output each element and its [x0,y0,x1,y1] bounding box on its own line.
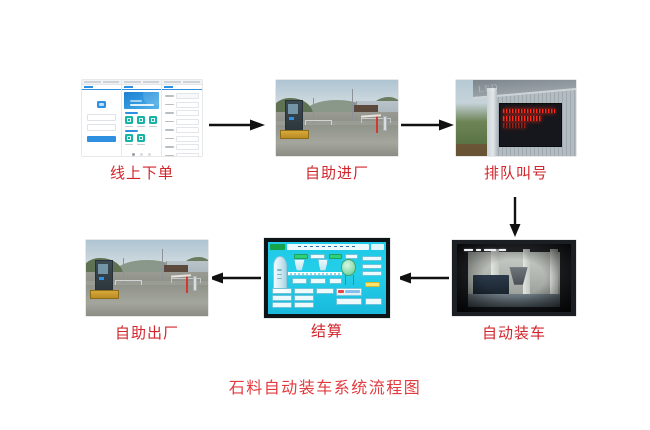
osd-text-segment [499,249,506,251]
hero-banner[interactable] [124,92,159,109]
connector-arrow-down [508,196,522,238]
form-row[interactable] [165,102,199,108]
section-label-more [125,130,138,132]
carousel-dot[interactable] [132,153,135,156]
factory-gate-photo [86,240,208,316]
chrome-bar-segment [164,81,181,83]
form-input[interactable] [176,153,199,157]
flow-node-settlement[interactable]: 结算 [264,238,390,318]
chrome-bar-segment [143,81,160,83]
form-label [165,95,174,97]
guard-rail [115,280,142,285]
flow-node-caption: 自助进厂 [276,164,398,182]
service-icon-grid-row1 [122,116,161,127]
app-mockup [82,80,202,156]
value-readout [310,278,325,284]
status-tag-running[interactable] [329,254,342,259]
form-label [165,129,174,131]
ticket-readout [336,298,362,304]
form-input[interactable] [176,102,199,108]
form-input[interactable] [176,119,199,125]
scada-hmi-photo [264,238,390,318]
table-cell [272,295,292,301]
booth-curb [280,130,309,138]
silo-level-mark [277,269,282,270]
table-cell [294,288,314,294]
service-icon-item[interactable] [125,116,133,127]
nav-tab-active [124,86,133,88]
form-label [165,112,174,114]
form-row[interactable] [165,153,199,157]
truck-icon [137,116,145,124]
weigh-hopper [318,259,329,271]
form-input[interactable] [176,127,199,133]
hmi-title-bar [287,244,370,250]
form-input[interactable] [176,136,199,142]
banner-title [130,104,154,107]
confirm-button[interactable] [365,298,383,304]
invoice-icon [149,116,157,124]
hmi-top-bar [268,242,386,251]
form-input[interactable] [176,144,199,150]
hmi-status-indicator [270,244,285,250]
status-tag-running[interactable] [294,254,308,259]
loading-truck-graphic [336,288,362,296]
flow-node-auto-loading[interactable]: 自动装车 [452,240,576,316]
flow-node-self-exit[interactable]: 自助出厂 [86,240,208,316]
silo-level-mark [277,278,282,279]
app-screen-order-form [162,80,202,156]
service-icon-label [125,126,133,128]
service-icon-label [125,144,133,146]
value-readout [292,278,307,284]
flow-node-caption: 排队叫号 [456,164,576,182]
self-service-kiosk [193,276,197,291]
nav-tab-row [122,85,161,90]
form-row[interactable] [165,110,199,116]
carousel-dots[interactable] [122,153,161,156]
hmi-clock [371,244,384,250]
login-button[interactable] [87,136,116,142]
status-tag[interactable] [310,254,324,259]
carousel-dot[interactable] [140,153,143,156]
barrier-gate-post [376,116,378,133]
connector-arrow-right [208,118,266,132]
form-row[interactable] [165,136,199,142]
login-body [82,90,121,145]
carousel-dot[interactable] [148,153,151,156]
chrome-bar-segment [124,81,141,83]
service-icon-label [149,126,157,128]
service-icon-label [137,126,145,128]
service-icon-item[interactable] [137,116,145,127]
thumbnail-factory-gate-entry[interactable] [276,80,398,156]
table-cell [294,302,314,308]
flow-node-online-order[interactable]: 线上下单 [82,80,202,156]
service-icon-item[interactable] [125,134,133,145]
guard-booth [95,260,113,292]
form-label [165,146,174,148]
utility-pole [162,249,164,281]
order-form-body [162,90,202,156]
self-service-kiosk [383,116,387,131]
wallet-icon [137,134,145,142]
camera-osd-timestamp [464,249,506,251]
order-icon [125,116,133,124]
form-label [165,155,174,156]
value-readout [329,278,342,284]
side-readout [362,256,382,261]
service-icon-item[interactable] [137,134,145,145]
tank-support-leg [345,275,346,285]
form-label [165,121,174,123]
table-cell [294,295,314,301]
flow-node-caption: 自动装车 [452,324,576,342]
thumbnail-app-screens[interactable] [82,80,202,156]
cctv-monitor-photo [452,240,576,316]
report-icon [125,134,133,142]
diagram-title: 石料自动装车系统流程图 [0,374,650,398]
username-field[interactable] [87,114,116,121]
wall-column [487,88,497,156]
alarm-tag[interactable] [365,282,380,287]
section-label-services [125,112,138,114]
flow-node-queue-call[interactable]: LED 排队叫号 [456,80,576,156]
tank-support-leg [353,275,354,285]
form-input[interactable] [176,110,199,116]
table-cell [272,302,292,308]
truck-under-loading [473,275,509,295]
weigh-hopper [294,259,305,271]
connector-arrow-left [212,271,262,285]
mixer-tank [341,259,356,276]
led-text-line [503,116,542,121]
conveyor-belt [288,272,342,276]
flow-node-self-entry[interactable]: 自助进厂 [276,80,398,156]
led-display-photo: LED [456,80,576,156]
form-label [165,104,174,106]
thumbnail-factory-gate-exit[interactable] [86,240,208,316]
form-input[interactable] [176,93,199,99]
booth-curb [90,290,119,298]
osd-text-segment [484,249,496,251]
factory-gate-photo [276,80,398,156]
osd-text-segment [476,249,481,251]
chrome-bar-segment [183,81,200,83]
flow-node-caption: 结算 [264,322,390,340]
bay-floor [468,294,559,306]
form-row[interactable] [165,119,199,125]
guard-rail [305,120,332,125]
side-readout [362,264,382,269]
guard-booth [285,100,303,132]
table-cell [272,288,292,294]
nav-tab-active [84,86,93,88]
osd-text-segment [464,249,473,251]
led-text-line [503,123,526,128]
app-screen-login [82,80,122,156]
banner-subtitle [130,100,142,102]
flow-node-caption: 线上下单 [82,164,202,182]
chrome-bar-segment [84,81,101,83]
thumbnail-cctv-monitor[interactable] [452,240,576,316]
silo-level-mark [277,274,282,275]
hmi-screen [268,242,386,314]
connector-arrow-left [400,271,450,285]
app-screen-home [122,80,162,156]
password-field[interactable] [87,124,116,131]
service-icon-item[interactable] [149,116,157,127]
form-row[interactable] [165,93,199,99]
form-label [165,138,174,140]
form-row[interactable] [165,127,199,133]
service-icon-grid-row2 [122,134,161,145]
thumbnail-hmi-screen[interactable] [264,238,390,318]
flow-diagram-canvas: 线上下单 [0,0,650,430]
flow-node-caption: 自助出厂 [86,324,208,342]
service-icon-label [137,144,145,146]
led-board [499,103,561,147]
thumbnail-led-display[interactable]: LED [456,80,576,156]
form-row[interactable] [165,144,199,150]
connector-arrow-right [400,118,455,132]
side-readout [362,271,382,276]
utility-pole [352,89,354,121]
nav-tab-active [164,86,173,88]
led-text-line [503,109,555,114]
brand-logo-icon [97,101,106,108]
chrome-bar-segment [103,81,120,83]
barrier-gate-post [186,276,188,293]
table-cell [316,288,334,294]
monitor-screen [457,244,571,312]
